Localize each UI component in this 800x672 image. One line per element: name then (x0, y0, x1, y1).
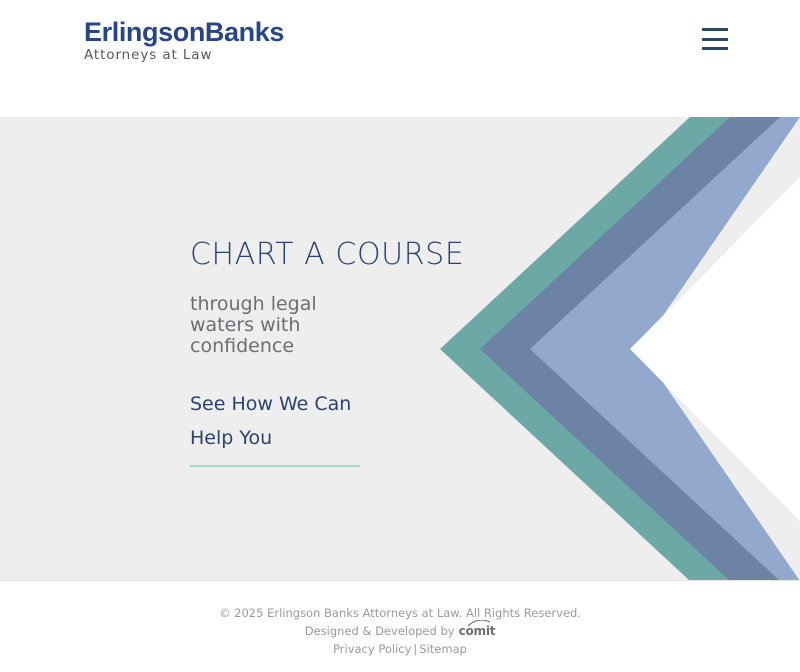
white-chevron (630, 177, 800, 521)
footer-copyright: © 2025 Erlingson Banks Attorneys at Law.… (0, 604, 800, 622)
logo-company-name: ErlingsonBanks (84, 17, 284, 47)
teal-chevron (440, 117, 800, 581)
hero-copy: CHART A COURSE through legal waters with… (190, 238, 490, 467)
white-chevron-fill (670, 177, 800, 521)
footer-link-privacy-policy[interactable]: Privacy Policy (333, 642, 411, 656)
logo-tagline: Attorneys at Law (84, 47, 212, 63)
hero-section: CHART A COURSE through legal waters with… (0, 117, 800, 581)
slate-blue-chevron (480, 117, 800, 581)
periwinkle-chevron (530, 117, 800, 581)
comit-logo[interactable]: comit (459, 624, 496, 638)
hero-cta-link[interactable]: See How We Can Help You (190, 387, 360, 467)
layered-chevron-graphic (440, 117, 800, 581)
menu-bar-top (702, 28, 728, 31)
site-footer: © 2025 Erlingson Banks Attorneys at Law.… (0, 582, 800, 672)
footer-credit: Designed & Developed by comit (0, 622, 800, 640)
hero-subtitle: through legal waters with confidence (190, 294, 325, 357)
hamburger-menu-icon[interactable] (702, 28, 728, 50)
menu-bar-middle (702, 38, 728, 41)
footer-link-sitemap[interactable]: Sitemap (419, 642, 467, 656)
site-logo[interactable]: ErlingsonBanks Attorneys at Law (84, 18, 294, 64)
footer-links: Privacy Policy|Sitemap (0, 640, 800, 658)
comit-swoosh-icon (468, 620, 490, 627)
hero-title: CHART A COURSE (190, 238, 490, 272)
menu-bar-bottom (702, 47, 728, 50)
footer-credit-prefix: Designed & Developed by (305, 622, 455, 640)
site-header: ErlingsonBanks Attorneys at Law (0, 0, 800, 117)
